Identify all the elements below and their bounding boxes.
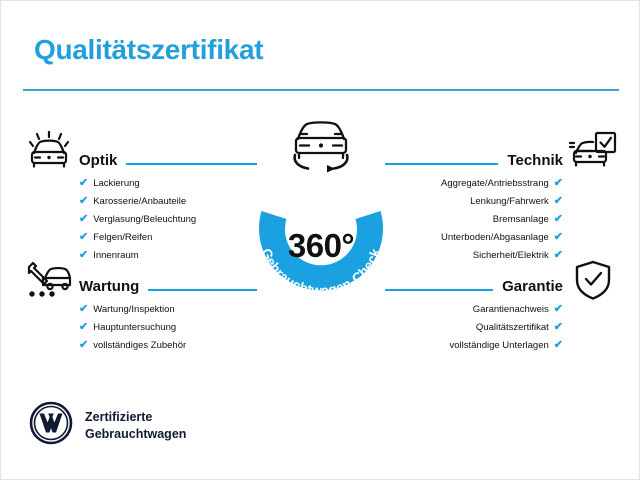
- vw-logo-icon: [29, 401, 73, 450]
- list-item-label: Qualitätszertifikat: [476, 323, 549, 333]
- check-icon: ✔: [554, 178, 563, 189]
- list-item-label: Bremsanlage: [493, 215, 549, 225]
- section-technik-header: Technik: [385, 147, 563, 169]
- list-item-label: Hauptuntersuchung: [93, 323, 176, 333]
- list-item: Sicherheit/Elektrik ✔: [385, 250, 563, 261]
- section-wartung-heading: Wartung: [79, 278, 139, 295]
- list-item-label: Garantienachweis: [473, 305, 549, 315]
- list-item: vollständige Unterlagen ✔: [385, 340, 563, 351]
- check-icon: ✔: [554, 196, 563, 207]
- list-item: Lenkung/Fahrwerk ✔: [385, 196, 563, 207]
- list-item: ✔ Verglasung/Beleuchtung: [79, 214, 257, 225]
- footer-line-2: Gebrauchtwagen: [85, 426, 186, 443]
- car-rotate-icon: [283, 115, 359, 175]
- car-checkbox-icon: [569, 131, 617, 176]
- list-item: ✔ Wartung/Inspektion: [79, 304, 257, 315]
- list-item: ✔ Innenraum: [79, 250, 257, 261]
- list-item: Qualitätszertifikat ✔: [385, 322, 563, 333]
- footer-line-1: Zertifizierte: [85, 409, 186, 426]
- section-wartung: Wartung ✔ Wartung/Inspektion ✔ Hauptunte…: [79, 273, 257, 358]
- list-item-label: Wartung/Inspektion: [93, 305, 175, 315]
- list-item: ✔ Lackierung: [79, 178, 257, 189]
- check-icon: ✔: [79, 250, 88, 261]
- check-icon: ✔: [554, 214, 563, 225]
- list-item-label: Innenraum: [93, 251, 138, 261]
- list-item-label: Karosserie/Anbauteile: [93, 197, 186, 207]
- list-item: Bremsanlage ✔: [385, 214, 563, 225]
- certificate-sheet: Qualitätszertifikat: [0, 0, 640, 480]
- section-technik: Technik Aggregate/Antriebsstrang ✔ Lenku…: [385, 147, 563, 268]
- section-garantie: Garantie Garantienachweis ✔ Qualitätszer…: [385, 273, 563, 358]
- section-technik-heading: Technik: [507, 152, 563, 169]
- list-item-label: Sicherheit/Elektrik: [473, 251, 549, 261]
- section-wartung-header: Wartung: [79, 273, 257, 295]
- list-item-label: Verglasung/Beleuchtung: [93, 215, 196, 225]
- footer-brand-text: Zertifizierte Gebrauchtwagen: [85, 409, 186, 442]
- list-item-label: Lackierung: [93, 179, 139, 189]
- list-item: Garantienachweis ✔: [385, 304, 563, 315]
- check-icon: ✔: [554, 250, 563, 261]
- section-optik-items: ✔ Lackierung ✔ Karosserie/Anbauteile ✔ V…: [79, 178, 257, 261]
- wrench-car-icon: [25, 259, 73, 306]
- check-icon: ✔: [79, 178, 88, 189]
- list-item-label: Felgen/Reifen: [93, 233, 152, 243]
- section-optik: Optik ✔ Lackierung ✔ Karosserie/Anbautei…: [79, 147, 257, 268]
- check-icon: ✔: [79, 304, 88, 315]
- list-item-label: Unterboden/Abgasanlage: [441, 233, 549, 243]
- list-item-label: Lenkung/Fahrwerk: [470, 197, 549, 207]
- list-item: ✔ vollständiges Zubehör: [79, 340, 257, 351]
- header-divider: [23, 89, 619, 91]
- check-icon: ✔: [554, 304, 563, 315]
- check-icon: ✔: [554, 232, 563, 243]
- check-icon: ✔: [554, 322, 563, 333]
- section-optik-header: Optik: [79, 147, 257, 169]
- list-item: ✔ Hauptuntersuchung: [79, 322, 257, 333]
- footer-brand: Zertifizierte Gebrauchtwagen: [29, 401, 186, 450]
- section-technik-items: Aggregate/Antriebsstrang ✔ Lenkung/Fahrw…: [385, 178, 563, 261]
- check-icon: ✔: [554, 340, 563, 351]
- list-item: ✔ Felgen/Reifen: [79, 232, 257, 243]
- section-garantie-heading: Garantie: [502, 278, 563, 295]
- page-title: Qualitätszertifikat: [34, 34, 263, 66]
- list-item: Unterboden/Abgasanlage ✔: [385, 232, 563, 243]
- section-garantie-items: Garantienachweis ✔ Qualitätszertifikat ✔…: [385, 304, 563, 351]
- list-item: Aggregate/Antriebsstrang ✔: [385, 178, 563, 189]
- 360-check-badge: Gebrauchtwagen-Check 360°: [234, 153, 408, 313]
- section-wartung-items: ✔ Wartung/Inspektion ✔ Hauptuntersuchung…: [79, 304, 257, 351]
- check-icon: ✔: [79, 340, 88, 351]
- section-optik-heading: Optik: [79, 152, 117, 169]
- check-icon: ✔: [79, 322, 88, 333]
- list-item-label: vollständiges Zubehör: [93, 341, 186, 351]
- badge-center-label: 360°: [234, 227, 408, 265]
- check-icon: ✔: [79, 232, 88, 243]
- car-shine-icon: [25, 131, 73, 176]
- list-item-label: Aggregate/Antriebsstrang: [441, 179, 549, 189]
- list-item: ✔ Karosserie/Anbauteile: [79, 196, 257, 207]
- check-icon: ✔: [79, 196, 88, 207]
- list-item-label: vollständige Unterlagen: [449, 341, 548, 351]
- section-garantie-header: Garantie: [385, 273, 563, 295]
- check-icon: ✔: [79, 214, 88, 225]
- shield-check-icon: [573, 259, 613, 306]
